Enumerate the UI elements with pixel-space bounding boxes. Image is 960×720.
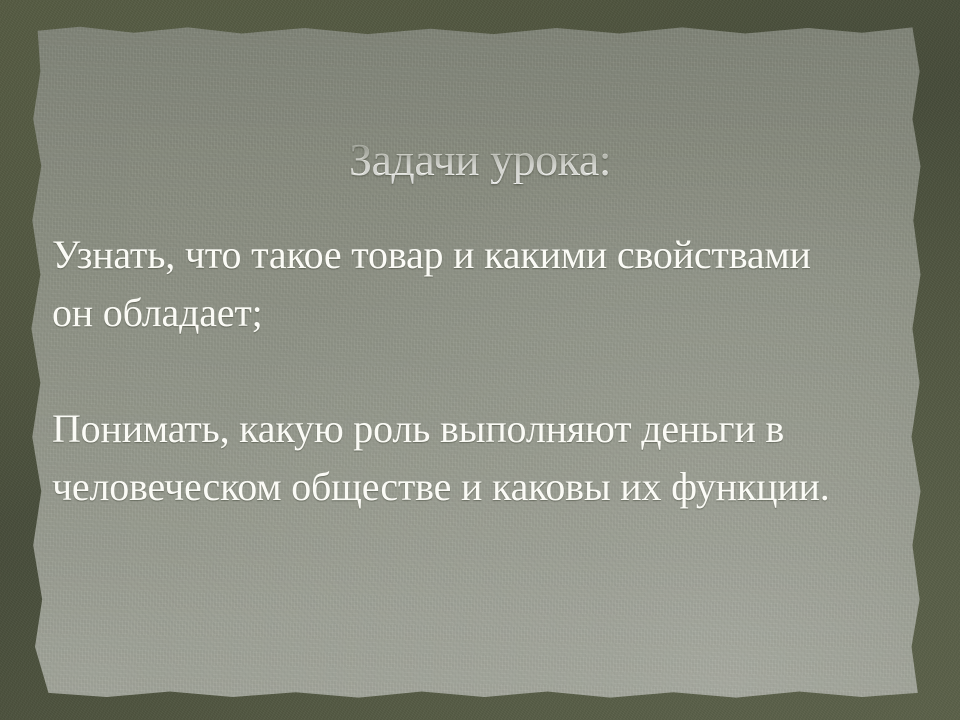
objective-paragraph-2: Понимать, какую роль выполняют деньги в …: [52, 400, 852, 516]
slide-title: Задачи урока:: [0, 136, 960, 184]
presentation-slide: Задачи урока: Узнать, что такое товар и …: [0, 0, 960, 720]
objective-paragraph-1: Узнать, что такое товар и какими свойств…: [52, 226, 852, 342]
slide-content: Задачи урока: Узнать, что такое товар и …: [0, 0, 960, 720]
slide-body: Узнать, что такое товар и какими свойств…: [52, 226, 852, 516]
paragraph-spacer: [52, 342, 852, 400]
